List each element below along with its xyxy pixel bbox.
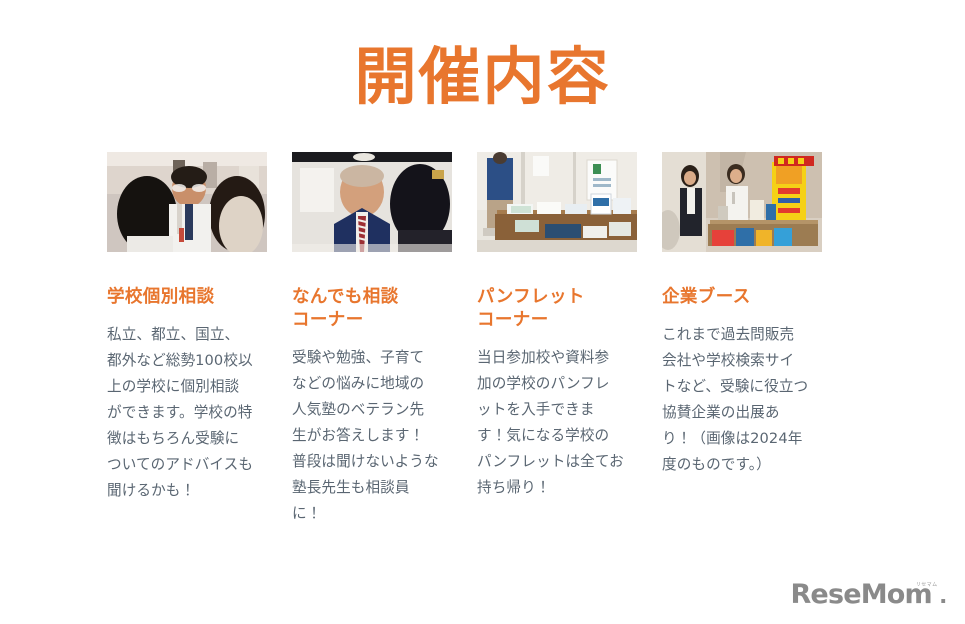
photo-general-consultation	[292, 152, 452, 252]
column-school-consultation: 学校個別相談 私立、都立、国立、 都外など総勢100校以 上の学校に個別相談 が…	[107, 152, 267, 527]
column-general-consultation: なんでも相談 コーナー 受験や勉強、子育て などの悩みに地域の 人気塾のベテラン…	[292, 152, 452, 527]
photo-company-booth	[662, 152, 822, 252]
slide-canvas: 開催内容	[0, 0, 965, 624]
column-heading: パンフレット コーナー	[477, 286, 637, 332]
column-company-booth: 企業ブース これまで過去問販売 会社や学校検索サイ トなど、受験に役立つ 協賛企…	[662, 152, 822, 527]
page-title: 開催内容	[0, 44, 965, 109]
photo-school-consultation	[107, 152, 267, 252]
logo-ruby-text: リセマム	[916, 583, 938, 588]
resemom-logo[interactable]: ReseMom リセマム .	[790, 581, 947, 608]
column-heading: 学校個別相談	[107, 286, 267, 309]
column-heading: なんでも相談 コーナー	[292, 286, 452, 332]
column-body-text: 私立、都立、国立、 都外など総勢100校以 上の学校に個別相談 ができます。学校…	[107, 322, 267, 504]
logo-wordmark: ReseMom	[790, 581, 931, 608]
column-body-text: 受験や勉強、子育て などの悩みに地域の 人気塾のベテラン先 生がお答えします！ …	[292, 345, 452, 527]
logo-dot: .	[939, 581, 947, 608]
column-body-text: 当日参加校や資料参 加の学校のパンフレ ットを入手できま す！気になる学校の パ…	[477, 345, 637, 501]
column-heading: 企業ブース	[662, 286, 822, 309]
content-columns: 学校個別相談 私立、都立、国立、 都外など総勢100校以 上の学校に個別相談 が…	[107, 152, 825, 527]
column-pamphlet-corner: パンフレット コーナー 当日参加校や資料参 加の学校のパンフレ ットを入手できま…	[477, 152, 637, 527]
photo-pamphlet-corner	[477, 152, 637, 252]
column-body-text: これまで過去問販売 会社や学校検索サイ トなど、受験に役立つ 協賛企業の出展あ …	[662, 322, 822, 478]
